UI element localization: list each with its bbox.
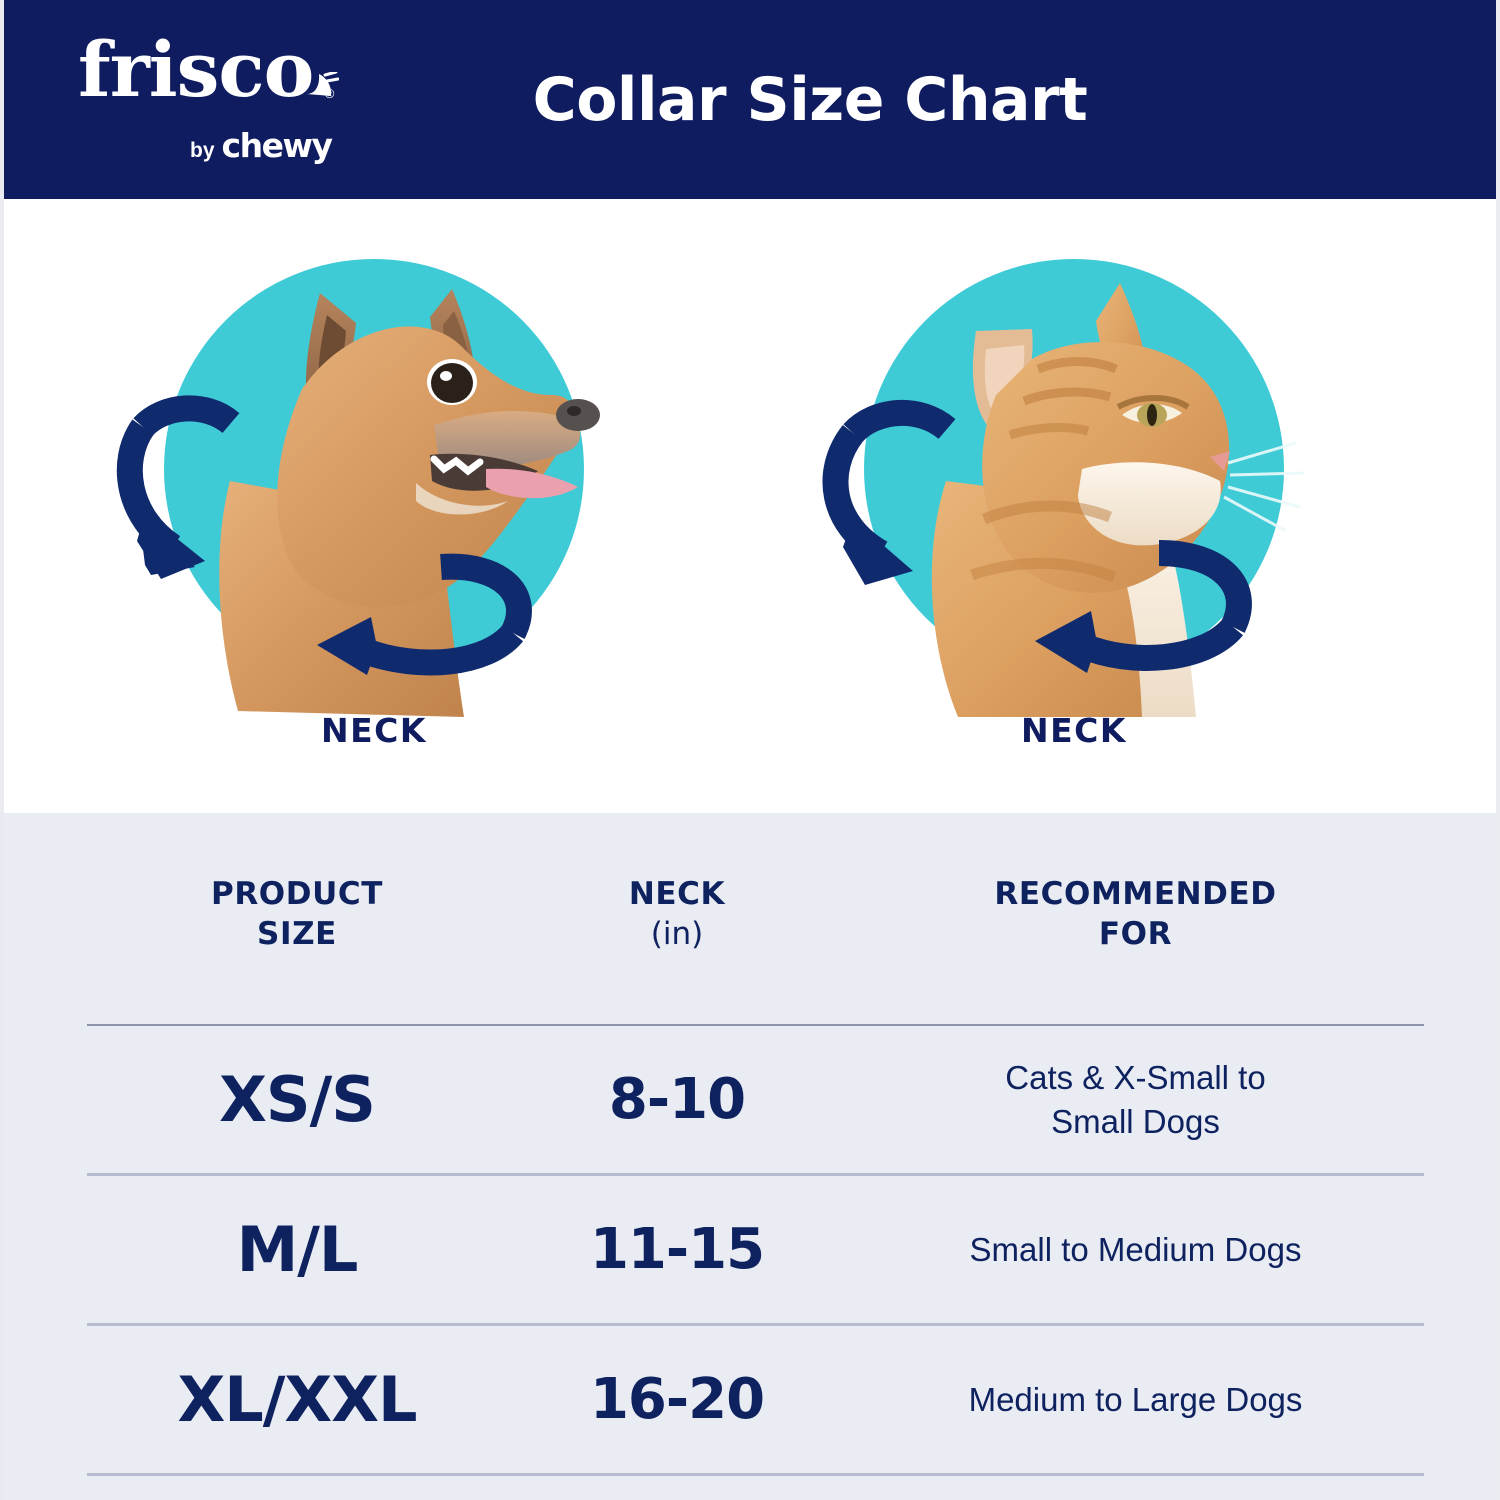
column-header-neck-unit: (in) xyxy=(507,915,847,955)
page-header: frisco ® by chewy Collar Size Chart xyxy=(4,0,1496,199)
table-row: XS/S 8-10 Cats & X-Small toSmall Dogs xyxy=(87,1026,1424,1176)
illustration-section: NECK xyxy=(4,199,1496,813)
collar-size-chart-page: frisco ® by chewy Collar Size Chart xyxy=(0,0,1500,1500)
cell-recommended-for: Small to Medium Dogs xyxy=(847,1228,1424,1272)
size-table-section: PRODUCT SIZE NECK (in) RECOMMENDED FOR X… xyxy=(4,813,1496,1500)
cell-neck-range: 8-10 xyxy=(507,1067,847,1132)
cat-neck-label-text: NECK xyxy=(1021,711,1127,750)
column-header-recommended-for-line1: RECOMMENDED xyxy=(994,876,1276,912)
cat-illustration-group: NECK xyxy=(754,199,1394,813)
table-header-row: PRODUCT SIZE NECK (in) RECOMMENDED FOR xyxy=(87,813,1424,1026)
cell-product-size: XL/XXL xyxy=(87,1363,507,1436)
column-header-neck: NECK (in) xyxy=(507,813,847,954)
dog-illustration-group: NECK xyxy=(54,199,694,813)
cell-neck-range: 11-15 xyxy=(507,1217,847,1282)
cat-circle-wrap xyxy=(864,259,1284,679)
cell-product-size: XS/S xyxy=(87,1063,507,1136)
column-header-product-size-line1: PRODUCT xyxy=(211,876,383,912)
cell-neck-range: 16-20 xyxy=(507,1367,847,1432)
dog-neck-label: NECK xyxy=(54,711,694,750)
table-row: XL/XXL 16-20 Medium to Large Dogs xyxy=(87,1326,1424,1476)
page-title: Collar Size Chart xyxy=(4,0,1496,199)
column-header-recommended-for-line2: FOR xyxy=(1099,916,1172,952)
size-table: PRODUCT SIZE NECK (in) RECOMMENDED FOR X… xyxy=(87,813,1424,1476)
column-header-recommended-for: RECOMMENDED FOR xyxy=(847,813,1424,954)
column-header-product-size-line2: SIZE xyxy=(257,916,337,952)
column-header-product-size: PRODUCT SIZE xyxy=(87,813,507,954)
dog-neck-label-text: NECK xyxy=(321,711,427,750)
column-header-neck-line1: NECK xyxy=(629,876,725,912)
cell-recommended-for: Cats & X-Small toSmall Dogs xyxy=(847,1056,1424,1143)
dog-circle-wrap xyxy=(164,259,584,679)
table-row: M/L 11-15 Small to Medium Dogs xyxy=(87,1176,1424,1326)
cat-neck-label: NECK xyxy=(754,711,1394,750)
cell-recommended-for: Medium to Large Dogs xyxy=(847,1378,1424,1422)
cell-product-size: M/L xyxy=(87,1213,507,1286)
neck-measure-arrow-icon xyxy=(109,389,629,689)
neck-measure-arrow-icon xyxy=(809,389,1329,689)
